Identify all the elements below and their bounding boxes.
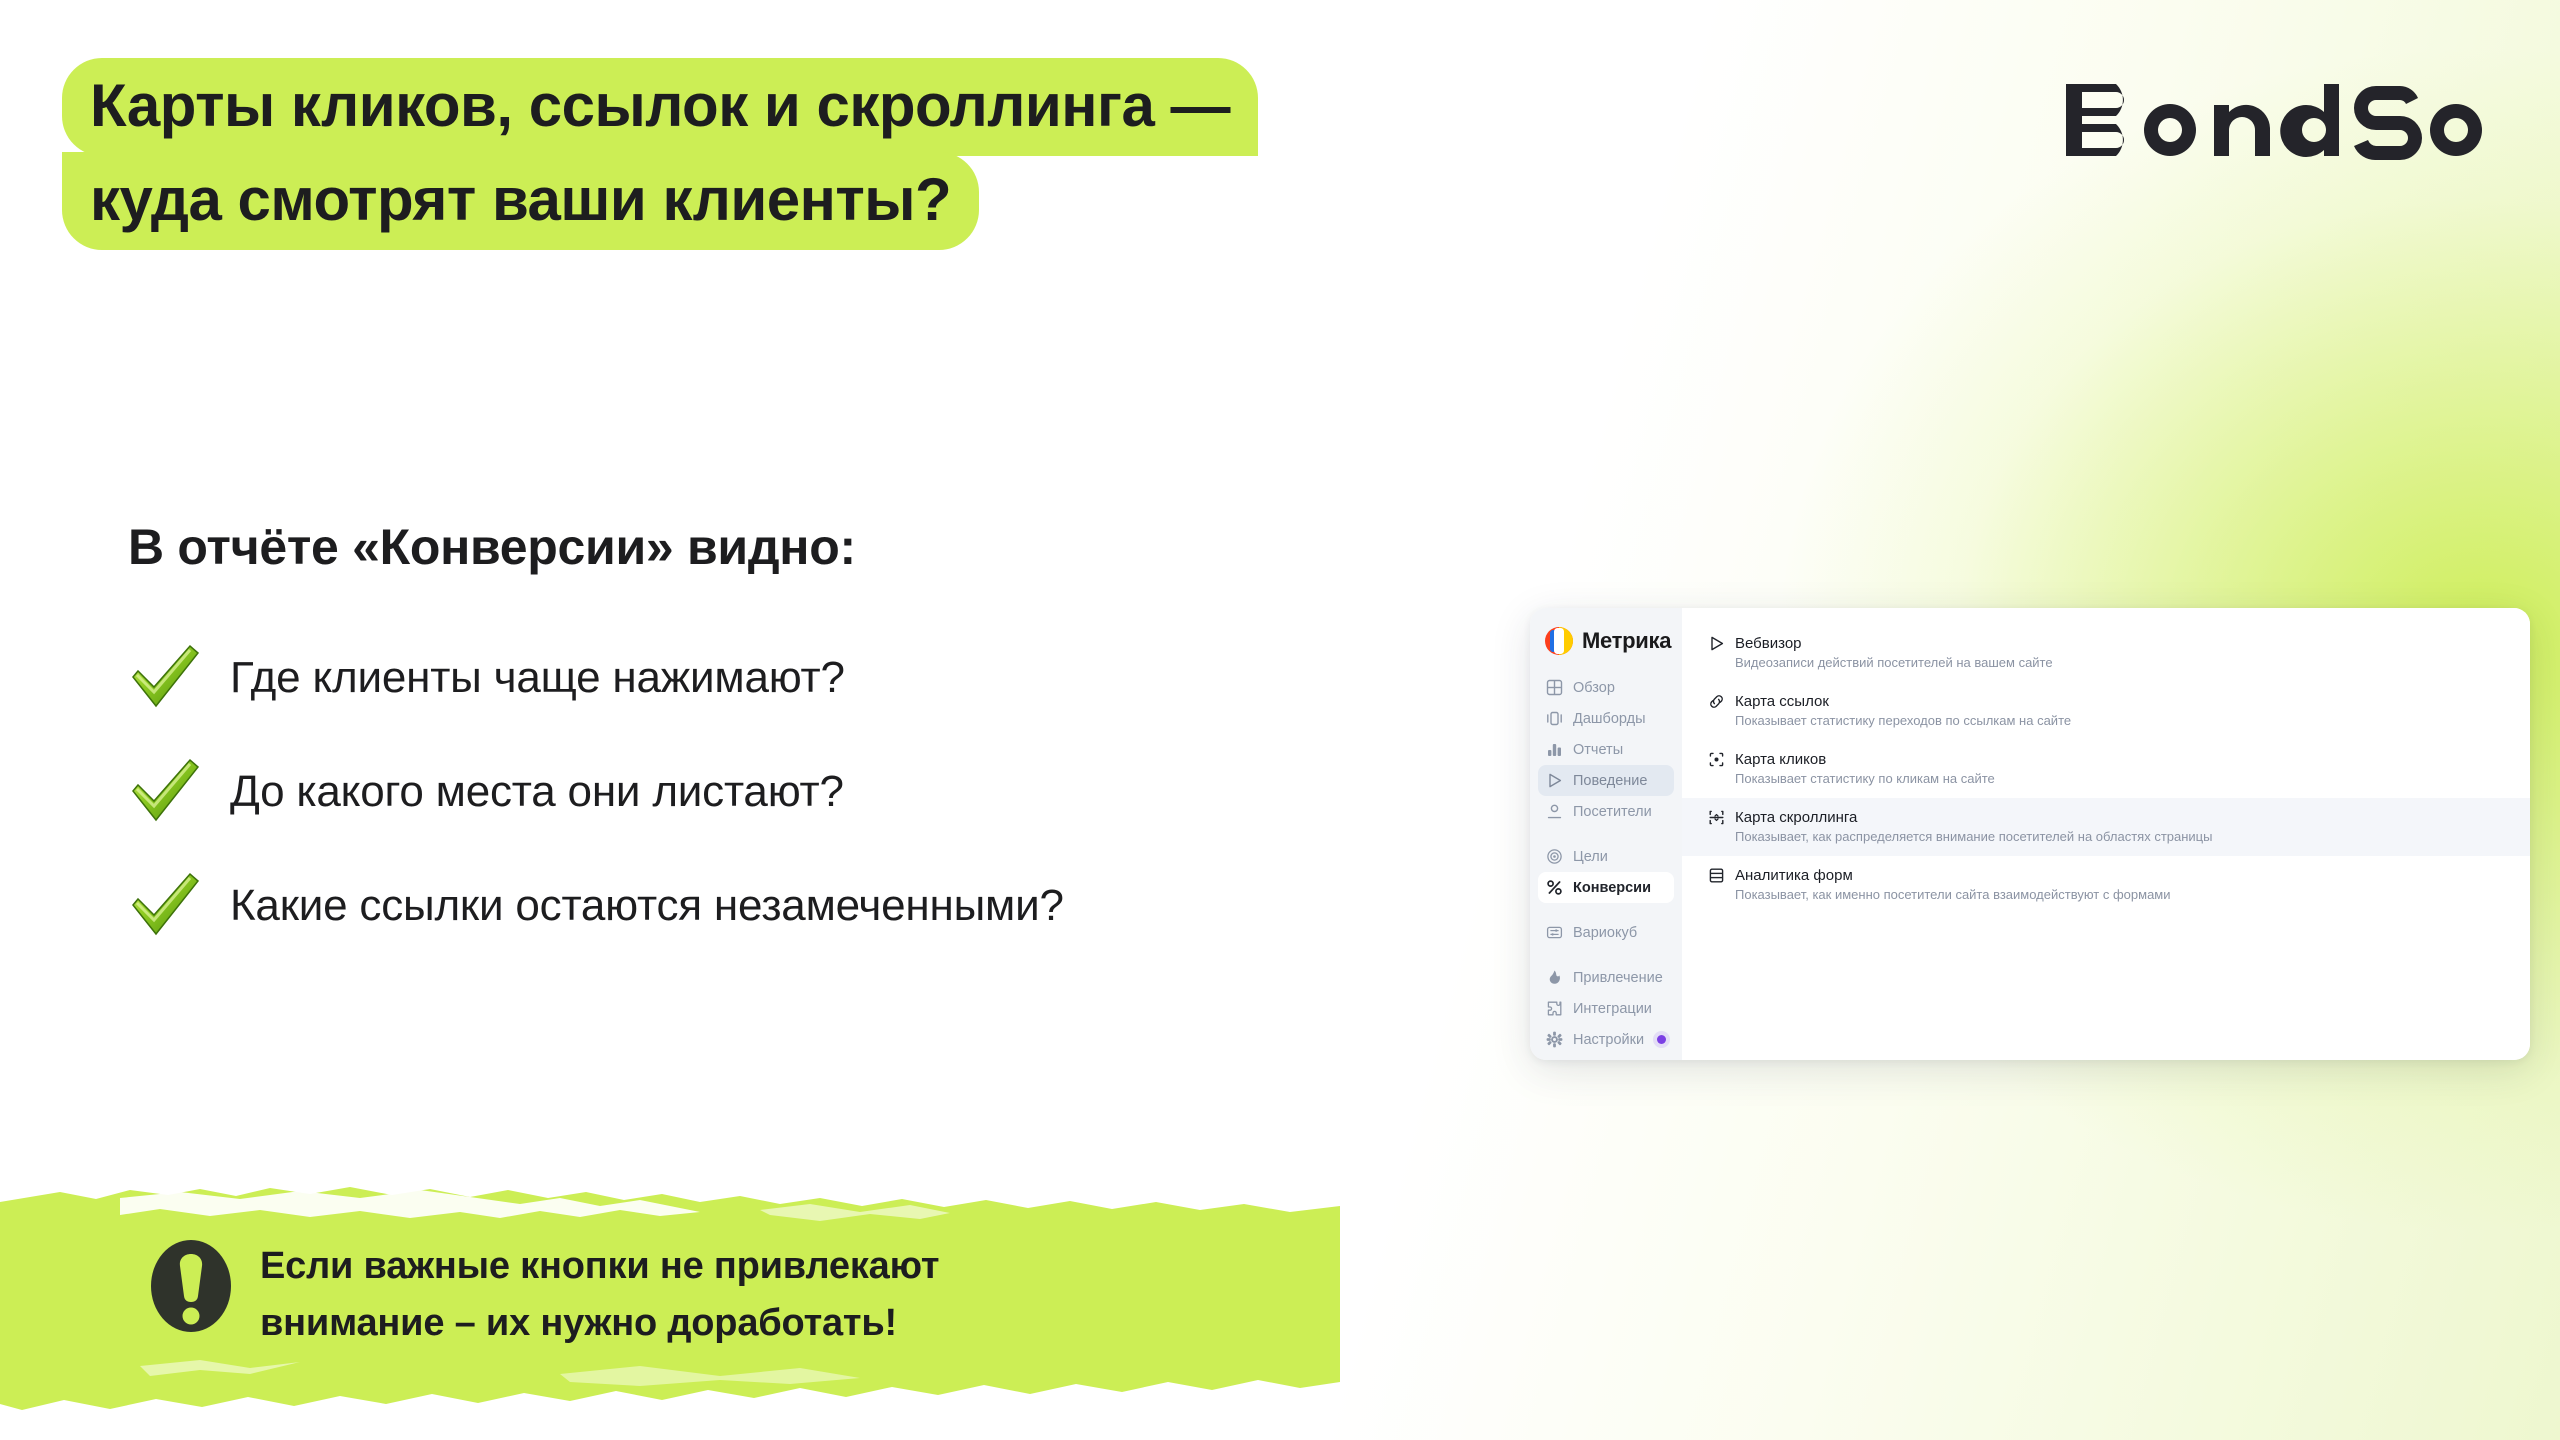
sidebar-item-label: Настройки: [1573, 1032, 1644, 1048]
sidebar-item-label: Конверсии: [1573, 880, 1651, 896]
report-title: Вебвизор: [1735, 635, 1802, 652]
exclamation-mark-icon: [148, 1238, 234, 1334]
report-title: Аналитика форм: [1735, 867, 1853, 884]
sidebar-item-behavior[interactable]: Поведение: [1538, 765, 1674, 796]
sidebar-item-settings[interactable]: Настройки: [1538, 1024, 1674, 1055]
sidebar-item-label: Цели: [1573, 849, 1608, 865]
report-header: Карта скроллинга: [1708, 809, 2504, 826]
grid-icon: [1546, 679, 1563, 696]
report-title: Карта скроллинга: [1735, 809, 1857, 826]
list-item-label: Какие ссылки остаются незамеченными?: [230, 884, 1064, 928]
report-title: Карта кликов: [1735, 751, 1826, 768]
list-item[interactable]: Карта кликов Показывает статистику по кл…: [1682, 740, 2530, 798]
sidebar-group: Вариокуб: [1530, 917, 1682, 948]
report-header: Аналитика форм: [1708, 867, 2504, 884]
list-item-label: Где клиенты чаще нажимают?: [230, 656, 845, 700]
sidebar-item-reports[interactable]: Отчеты: [1538, 734, 1674, 765]
sidebar-item-label: Отчеты: [1573, 742, 1623, 758]
page-title-line-1: Карты кликов, ссылок и скроллинга —: [62, 58, 1258, 156]
forms-icon: [1708, 867, 1725, 884]
sidebar-item-variocube[interactable]: Вариокуб: [1538, 917, 1674, 948]
percent-icon: [1546, 879, 1563, 896]
report-description: Видеозаписи действий посетителей на ваше…: [1708, 655, 2504, 670]
sidebar-group: Привлечение Интеграции: [1530, 962, 1682, 1055]
metrika-brand-name: Метрика: [1582, 628, 1671, 654]
variocube-icon: [1546, 924, 1563, 941]
link-icon: [1708, 693, 1725, 710]
check-mark-icon: [128, 758, 202, 826]
list-item: Какие ссылки остаются незамеченными?: [128, 868, 1548, 944]
sidebar-group: Обзор Дашборды Отчеты: [1530, 672, 1682, 827]
sidebar-item-label: Привлечение: [1573, 970, 1663, 986]
sidebar-divider: [1530, 903, 1682, 917]
sidebar-item-integrations[interactable]: Интеграции: [1538, 993, 1674, 1024]
list-item[interactable]: Вебвизор Видеозаписи действий посетителе…: [1682, 624, 2530, 682]
flame-icon: [1546, 969, 1563, 986]
sidebar-item-label: Обзор: [1573, 680, 1615, 696]
sidebar-item-visitors[interactable]: Посетители: [1538, 796, 1674, 827]
sidebar-item-dashboards[interactable]: Дашборды: [1538, 703, 1674, 734]
report-description: Показывает, как распределяется внимание …: [1708, 829, 2504, 844]
report-header: Карта ссылок: [1708, 693, 2504, 710]
bondsoft-logo: BondSoft: [2062, 78, 2502, 181]
subheading: В отчёте «Конверсии» видно:: [128, 518, 856, 576]
check-mark-icon: [128, 872, 202, 940]
note-line-1: Если важные кнопки не привлекают: [260, 1238, 939, 1295]
sidebar-group: Цели Конверсии: [1530, 841, 1682, 903]
check-mark-icon: [128, 644, 202, 712]
play-icon: [1546, 772, 1563, 789]
puzzle-icon: [1546, 1000, 1563, 1017]
gear-icon: [1546, 1031, 1563, 1048]
report-title: Карта ссылок: [1735, 693, 1829, 710]
sidebar-item-conversions[interactable]: Конверсии: [1538, 872, 1674, 903]
list-item[interactable]: Карта скроллинга Показывает, как распред…: [1682, 798, 2530, 856]
report-description: Показывает статистику по кликам на сайте: [1708, 771, 2504, 786]
report-header: Вебвизор: [1708, 635, 2504, 652]
settings-notification-dot: [1657, 1035, 1666, 1044]
scroll-map-icon: [1708, 809, 1725, 826]
metrika-report-list: Вебвизор Видеозаписи действий посетителе…: [1682, 608, 2530, 1060]
list-item[interactable]: Аналитика форм Показывает, как именно по…: [1682, 856, 2530, 914]
bar-chart-icon: [1546, 741, 1563, 758]
yandex-metrika-logo-icon: [1544, 626, 1574, 656]
sidebar-item-label: Дашборды: [1573, 711, 1646, 727]
person-icon: [1546, 803, 1563, 820]
list-item[interactable]: Карта ссылок Показывает статистику перех…: [1682, 682, 2530, 740]
metrika-window: Метрика Обзор: [1530, 608, 2530, 1060]
metrika-sidebar: Метрика Обзор: [1530, 608, 1682, 1060]
page-title-line-2: куда смотрят ваши клиенты?: [62, 152, 979, 250]
play-icon: [1708, 635, 1725, 652]
sidebar-item-label: Поведение: [1573, 773, 1647, 789]
page-title: Карты кликов, ссылок и скроллинга — куда…: [62, 58, 1262, 250]
sidebar-item-label: Интеграции: [1573, 1001, 1652, 1017]
list-item: Где клиенты чаще нажимают?: [128, 640, 1548, 716]
report-description: Показывает статистику переходов по ссылк…: [1708, 713, 2504, 728]
metrika-app-screenshot: Метрика Обзор: [1530, 608, 2530, 1060]
target-icon: [1546, 848, 1563, 865]
report-description: Показывает, как именно посетители сайта …: [1708, 887, 2504, 902]
sidebar-divider: [1530, 948, 1682, 962]
list-item-label: До какого места они листают?: [230, 770, 844, 814]
note-text: Если важные кнопки не привлекают внимани…: [260, 1238, 939, 1352]
list-item: До какого места они листают?: [128, 754, 1548, 830]
sidebar-item-label: Вариокуб: [1573, 925, 1637, 941]
sidebar-item-label: Посетители: [1573, 804, 1652, 820]
metrika-brand: Метрика: [1530, 622, 1682, 672]
bondsoft-logo-icon: [2062, 78, 2502, 164]
note-callout: Если важные кнопки не привлекают внимани…: [148, 1238, 939, 1352]
sidebar-item-overview[interactable]: Обзор: [1538, 672, 1674, 703]
sidebar-divider: [1530, 827, 1682, 841]
bullet-list: Где клиенты чаще нажимают? До какого мес…: [128, 640, 1548, 982]
sidebar-item-goals[interactable]: Цели: [1538, 841, 1674, 872]
sidebar-item-acquisition[interactable]: Привлечение: [1538, 962, 1674, 993]
note-line-2: внимание – их нужно доработать!: [260, 1295, 939, 1352]
report-header: Карта кликов: [1708, 751, 2504, 768]
dashboard-icon: [1546, 710, 1563, 727]
click-target-icon: [1708, 751, 1725, 768]
